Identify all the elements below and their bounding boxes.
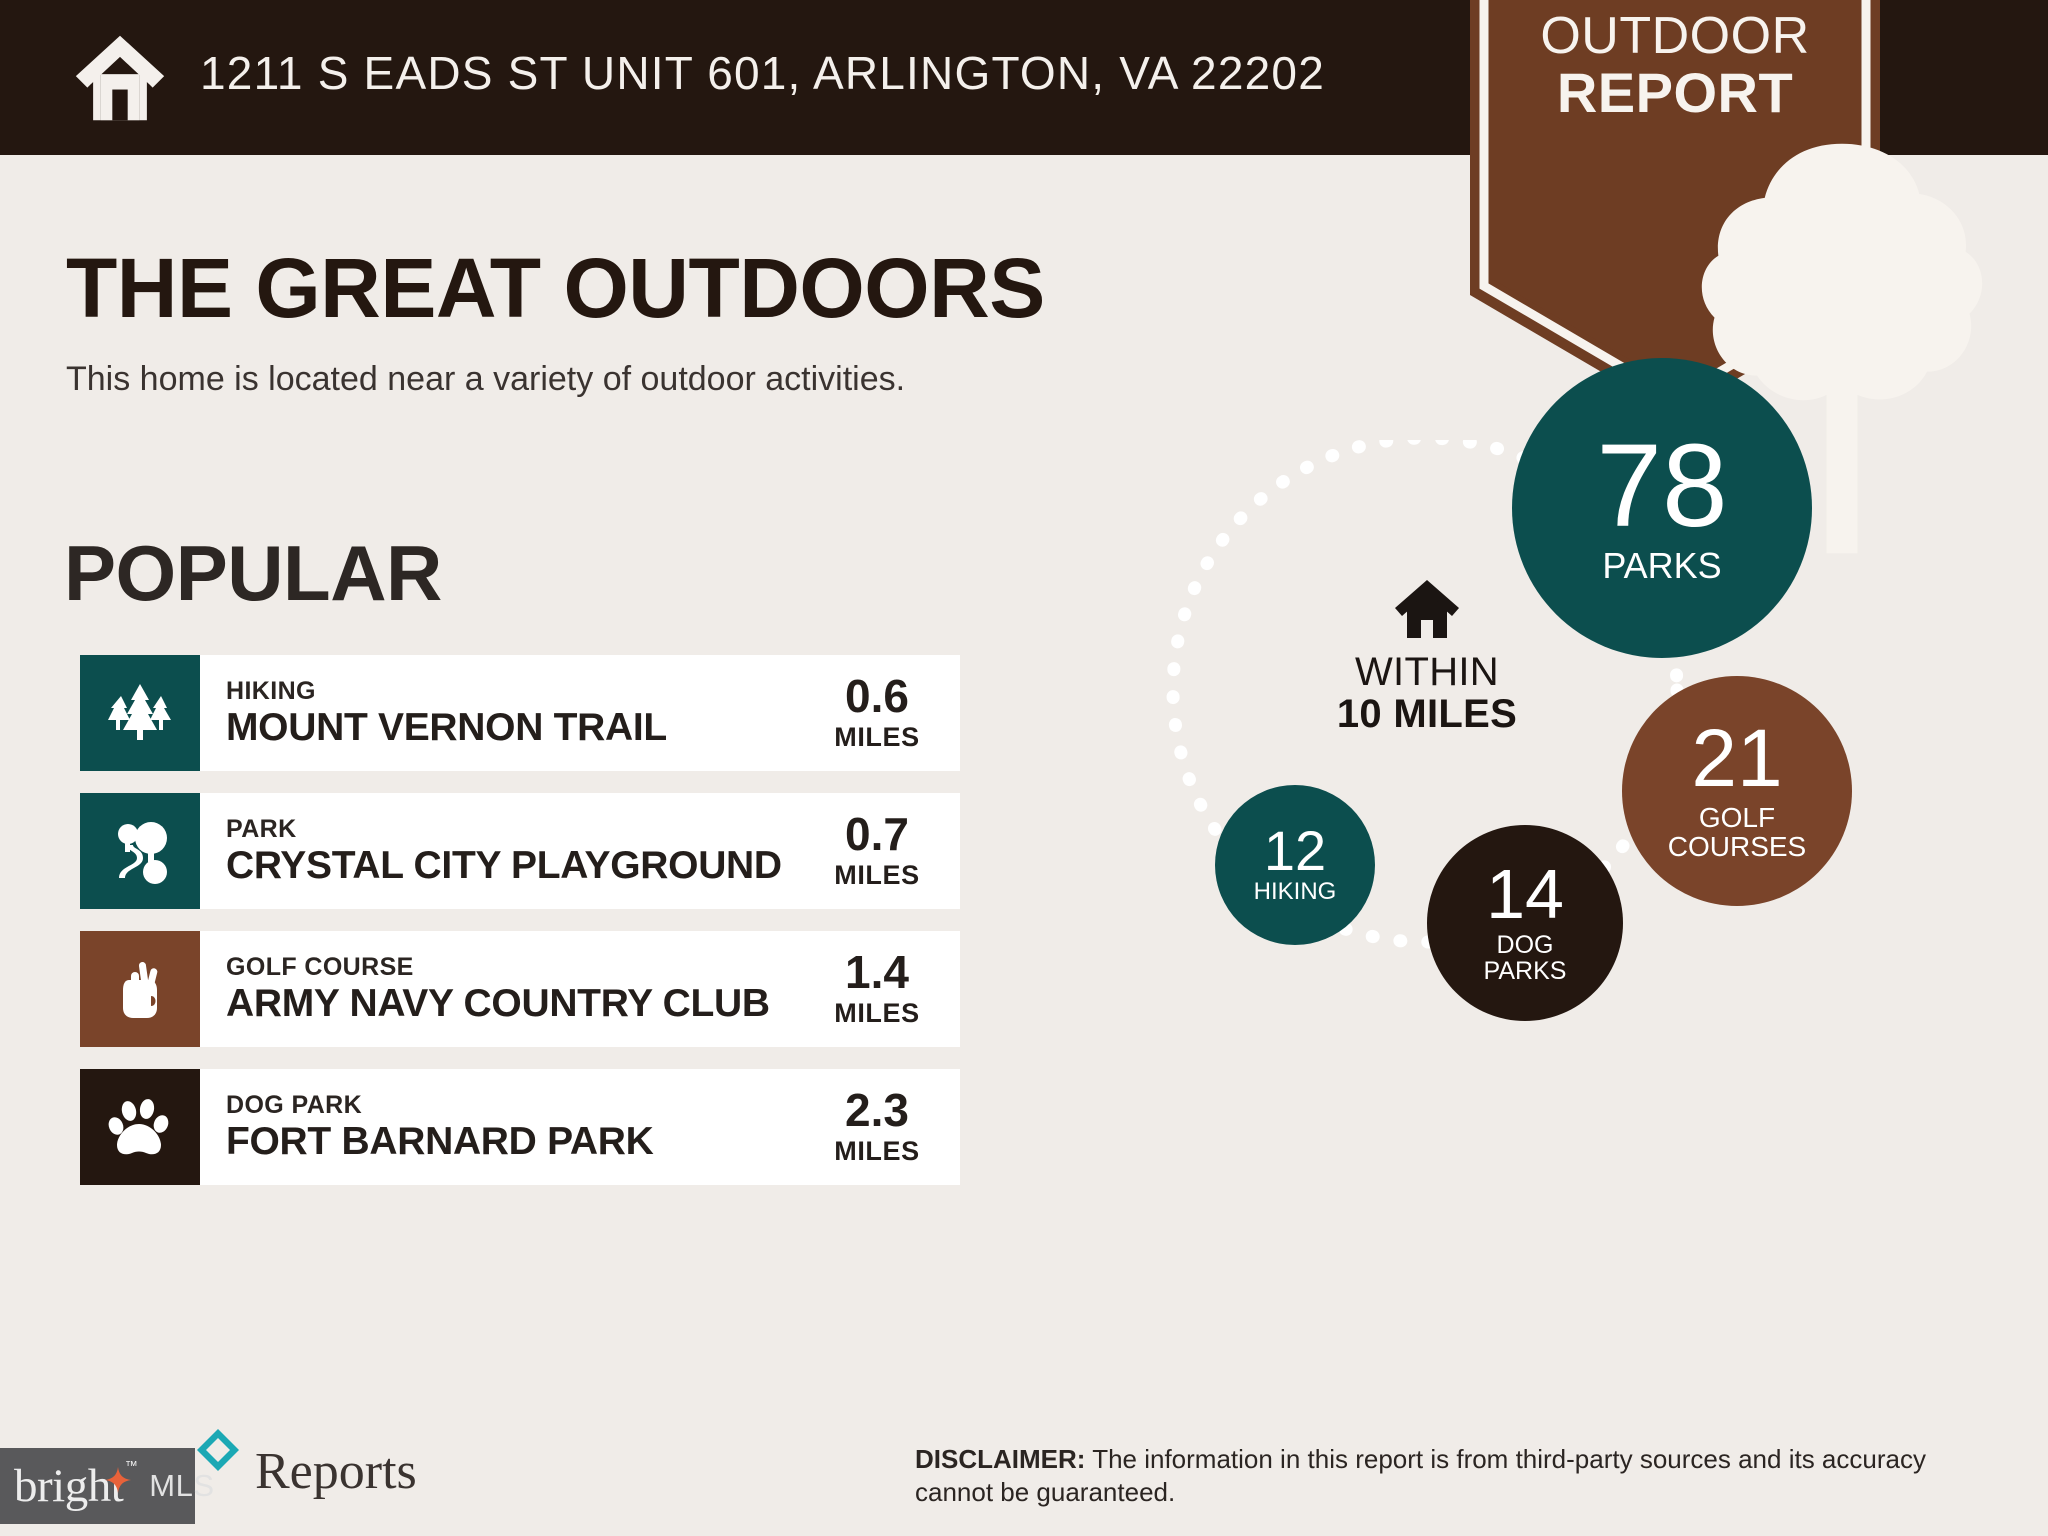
- diagram-center-label: WITHIN 10 MILES: [1312, 578, 1542, 735]
- poi-category: DOG PARK: [226, 1091, 812, 1120]
- poi-distance-unit: MILES: [812, 860, 942, 891]
- center-line-2: 10 MILES: [1312, 693, 1542, 735]
- poi-icon-box: [80, 793, 200, 909]
- list-item[interactable]: DOG PARK FORT BARNARD PARK 2.3 MILES: [80, 1069, 960, 1185]
- stat-bubble-golf-courses[interactable]: 21 GOLF COURSES: [1622, 676, 1852, 906]
- page-title: THE GREAT OUTDOORS: [66, 240, 1045, 337]
- property-address: 1211 S EADS ST UNIT 601, ARLINGTON, VA 2…: [200, 46, 1325, 100]
- stat-label-line-2: COURSES: [1668, 832, 1806, 861]
- poi-body: DOG PARK FORT BARNARD PARK 2.3 MILES: [200, 1069, 960, 1185]
- reports-logo-word: Reports: [255, 1442, 417, 1501]
- poi-distance-unit: MILES: [812, 722, 942, 753]
- poi-distance: 0.7 MILES: [812, 811, 942, 891]
- popular-section-heading: POPULAR: [64, 528, 442, 619]
- poi-icon-box: [80, 931, 200, 1047]
- outdoor-report-page: 1211 S EADS ST UNIT 601, ARLINGTON, VA 2…: [0, 0, 2048, 1536]
- home-icon: [1393, 578, 1461, 640]
- poi-body: PARK CRYSTAL CITY PLAYGROUND 0.7 MILES: [200, 793, 960, 909]
- poi-name: FORT BARNARD PARK: [226, 1122, 812, 1163]
- stat-value: 14: [1486, 862, 1564, 926]
- trademark-symbol: ™: [125, 1459, 138, 1472]
- park-trees-path-icon: [107, 818, 173, 884]
- within-10-miles-diagram: 78 PARKS 21 GOLF COURSES 14 DOG PARKS 12…: [1080, 440, 2000, 1100]
- poi-distance: 2.3 MILES: [812, 1087, 942, 1167]
- list-item[interactable]: HIKING MOUNT VERNON TRAIL 0.6 MILES: [80, 655, 960, 771]
- bright-mls-logo[interactable]: bright ™ MLS: [0, 1448, 195, 1524]
- poi-body: HIKING MOUNT VERNON TRAIL 0.6 MILES: [200, 655, 960, 771]
- poi-icon-box: [80, 1069, 200, 1185]
- list-item[interactable]: GOLF COURSE ARMY NAVY COUNTRY CLUB 1.4 M…: [80, 931, 960, 1047]
- poi-category: GOLF COURSE: [226, 953, 812, 982]
- center-line-1: WITHIN: [1312, 652, 1542, 693]
- poi-text: DOG PARK FORT BARNARD PARK: [226, 1091, 812, 1163]
- stat-label: HIKING: [1254, 880, 1337, 905]
- stat-value: 12: [1264, 825, 1326, 877]
- poi-text: PARK CRYSTAL CITY PLAYGROUND: [226, 815, 812, 887]
- poi-distance-unit: MILES: [812, 1136, 942, 1167]
- page-subtitle: This home is located near a variety of o…: [66, 360, 905, 399]
- stat-label: PARKS: [1602, 547, 1721, 584]
- disclaimer-label: DISCLAIMER:: [915, 1444, 1085, 1474]
- outdoor-report-badge: OUTDOOR REPORT: [1470, 0, 1880, 415]
- poi-distance-value: 0.7: [812, 811, 942, 857]
- stat-label-line-2: PARKS: [1484, 958, 1567, 984]
- golf-bag-icon: [107, 956, 173, 1022]
- poi-name: CRYSTAL CITY PLAYGROUND: [226, 846, 812, 887]
- stat-value: 21: [1691, 721, 1782, 796]
- poi-text: GOLF COURSE ARMY NAVY COUNTRY CLUB: [226, 953, 812, 1025]
- poi-text: HIKING MOUNT VERNON TRAIL: [226, 677, 812, 749]
- home-icon: [72, 30, 168, 126]
- popular-poi-list: HIKING MOUNT VERNON TRAIL 0.6 MILES: [80, 655, 960, 1207]
- poi-name: MOUNT VERNON TRAIL: [226, 708, 812, 749]
- poi-distance-unit: MILES: [812, 998, 942, 1029]
- poi-distance: 0.6 MILES: [812, 673, 942, 753]
- stat-label-line-1: GOLF: [1668, 803, 1806, 832]
- diamond-icon: [195, 1427, 241, 1473]
- poi-body: GOLF COURSE ARMY NAVY COUNTRY CLUB 1.4 M…: [200, 931, 960, 1047]
- stat-label: DOG PARKS: [1484, 932, 1567, 984]
- stat-bubble-hiking[interactable]: 12 HIKING: [1215, 785, 1375, 945]
- poi-distance-value: 1.4: [812, 949, 942, 995]
- poi-distance-value: 2.3: [812, 1087, 942, 1133]
- stat-bubble-dog-parks[interactable]: 14 DOG PARKS: [1427, 825, 1623, 1021]
- poi-name: ARMY NAVY COUNTRY CLUB: [226, 984, 812, 1025]
- stat-label-line-1: DOG: [1484, 932, 1567, 958]
- poi-distance: 1.4 MILES: [812, 949, 942, 1029]
- pine-trees-icon: [107, 680, 173, 746]
- stat-value: 78: [1596, 432, 1727, 541]
- poi-category: HIKING: [226, 677, 812, 706]
- bright-logo-word: bright ™: [14, 1463, 123, 1510]
- mls-label: MLS: [149, 1468, 214, 1504]
- disclaimer: DISCLAIMER: The information in this repo…: [915, 1443, 1990, 1510]
- stat-label: GOLF COURSES: [1668, 803, 1806, 861]
- poi-icon-box: [80, 655, 200, 771]
- stat-bubble-parks[interactable]: 78 PARKS: [1512, 358, 1812, 658]
- poi-category: PARK: [226, 815, 812, 844]
- paw-print-icon: [107, 1094, 173, 1160]
- poi-distance-value: 0.6: [812, 673, 942, 719]
- list-item[interactable]: PARK CRYSTAL CITY PLAYGROUND 0.7 MILES: [80, 793, 960, 909]
